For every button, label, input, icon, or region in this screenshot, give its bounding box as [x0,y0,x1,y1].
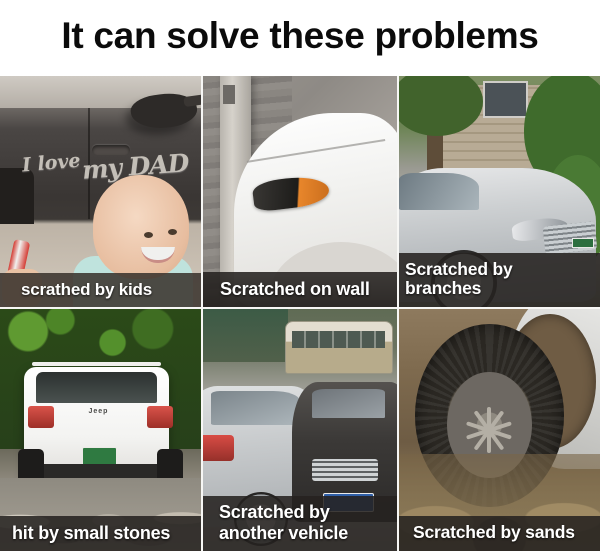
jeep-badge: Jeep [88,408,108,415]
sedan-windshield [312,389,386,418]
grid-cell-scratched-by-another-vehicle[interactable]: Scratched by another vehicle [203,309,399,551]
poster: It can solve these problems I love my DA… [0,0,600,553]
caption-scratched-on-wall: Scratched on wall [203,272,397,307]
caption-scratched-by-kids: scrathed by kids [0,273,201,307]
rear-window [36,372,157,403]
child-eye-left [144,232,153,238]
roof-rail [32,362,161,366]
hatchback-taillight [203,435,234,462]
grid-cell-scratched-by-branches[interactable]: Scratched by branches [399,76,600,309]
problem-grid: I love my DAD scrathed by kids [0,76,600,551]
windshield [399,173,479,210]
caption-scratched-by-another-vehicle: Scratched by another vehicle [203,496,397,551]
page-title: It can solve these problems [0,0,600,72]
taillight-right [147,406,173,428]
caption-scratched-by-sands: Scratched by sands [399,516,600,551]
sedan-grille [312,459,378,481]
background-bus [285,321,394,374]
building-window [483,81,527,118]
scratch-text-line1: I love [21,150,81,177]
child-face [93,175,189,279]
photo-jeep-on-rocks: Jeep [0,309,201,551]
caption-hit-by-small-stones: hit by small stones [0,516,201,551]
tree-line [203,309,288,362]
taillight-left [28,406,54,428]
hatchback-window [211,391,300,425]
caption-scratched-by-branches: Scratched by branches [399,253,600,307]
grid-cell-hit-by-small-stones[interactable]: Jeep hit by small stones [0,309,203,551]
license-plate [572,238,594,248]
bus-windows [292,331,385,348]
grid-cell-scratched-on-wall[interactable]: Scratched on wall [203,76,399,309]
photo-muddy-wheel [399,309,600,551]
grid-cell-scratched-by-sands[interactable]: Scratched by sands [399,309,600,551]
grid-cell-scratched-by-kids[interactable]: I love my DAD scrathed by kids [0,76,203,309]
